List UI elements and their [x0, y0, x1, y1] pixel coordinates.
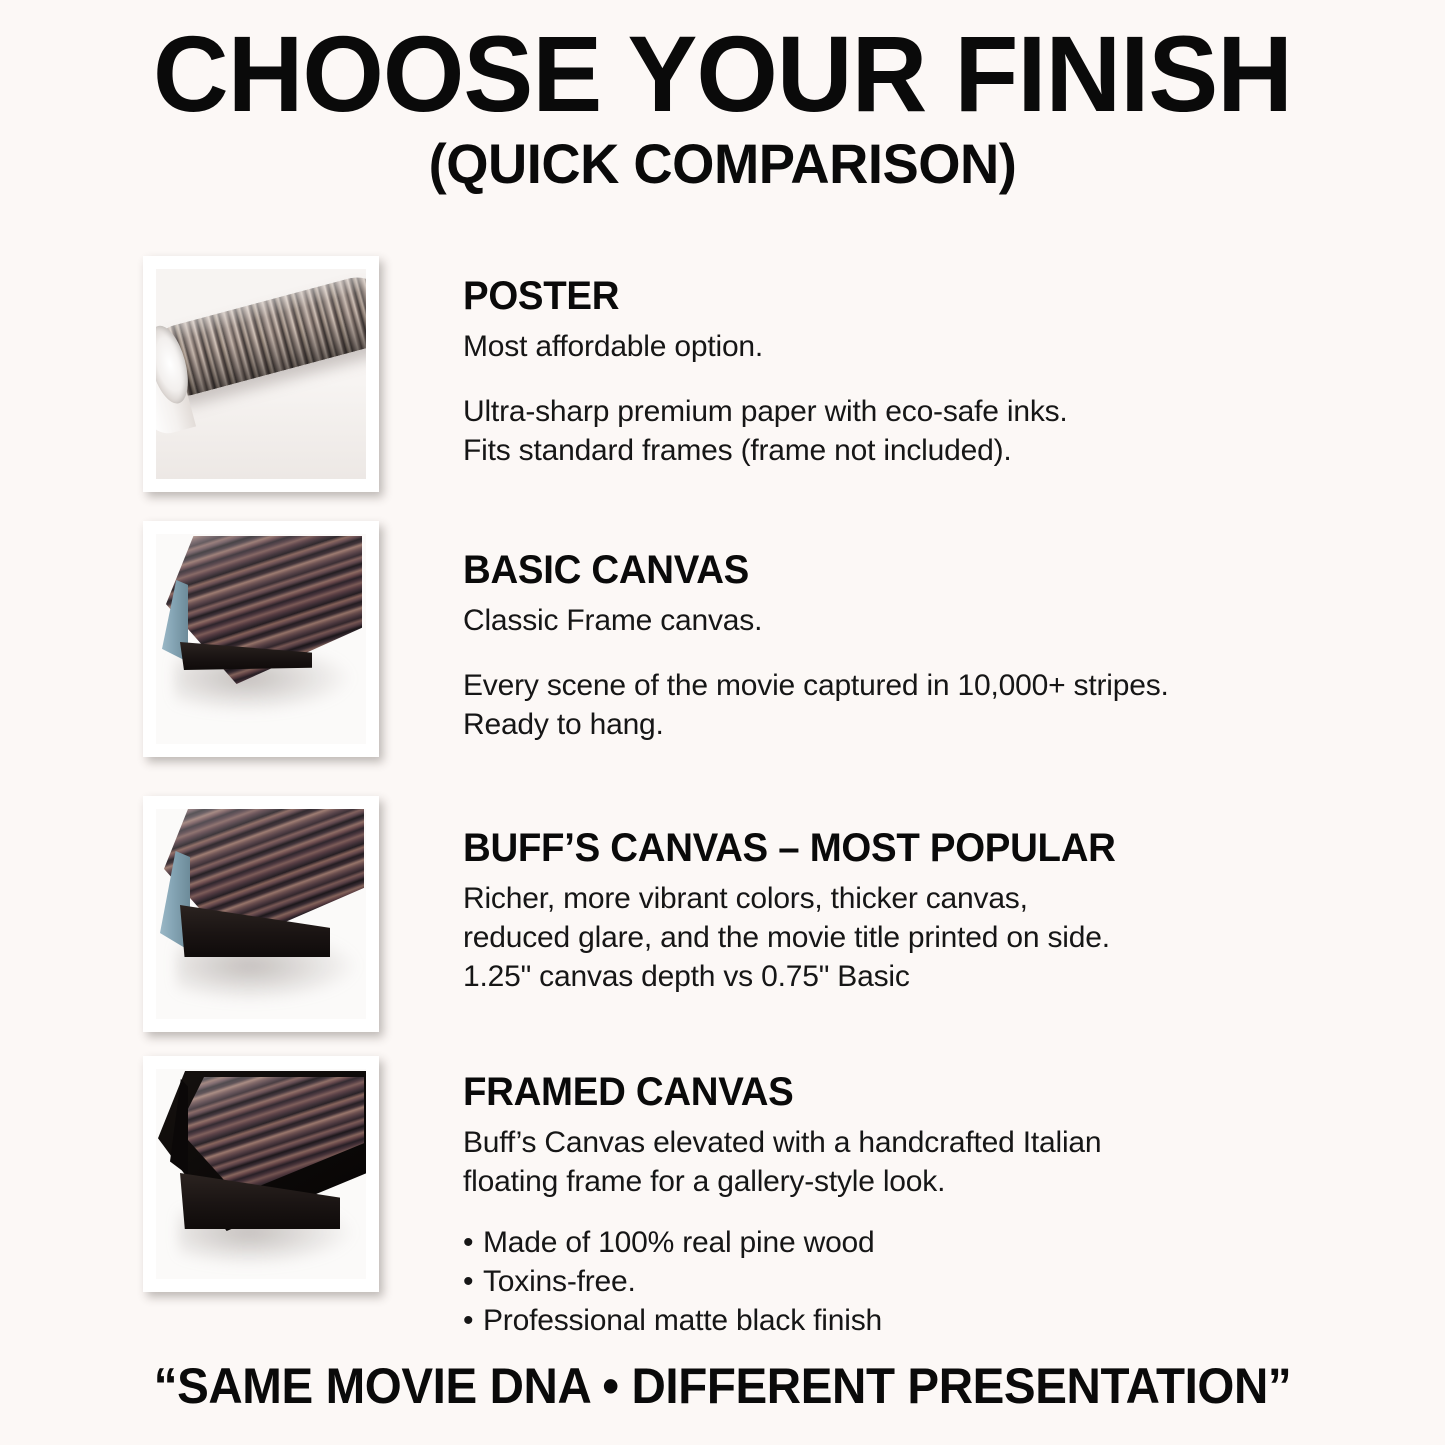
finish-body-buffs-canvas-2: reduced glare, and the movie title print…	[463, 918, 1333, 957]
poster-text-column: POSTER Most affordable option. Ultra-sha…	[463, 274, 1333, 470]
finish-lead-poster: Most affordable option.	[463, 327, 1333, 366]
finish-body-poster-2: Fits standard frames (frame not included…	[463, 431, 1333, 470]
photo-card	[143, 521, 379, 757]
finish-body-framed-canvas-1: Buff’s Canvas elevated with a handcrafte…	[463, 1123, 1333, 1162]
header: CHOOSE YOUR FINISH (QUICK COMPARISON)	[0, 0, 1445, 194]
bullet-dot-icon: •	[463, 1262, 483, 1301]
basic-canvas-scene	[156, 534, 366, 744]
list-item: •Professional matte black finish	[463, 1301, 1333, 1340]
framed-canvas-photo	[143, 1056, 379, 1292]
list-item: •Made of 100% real pine wood	[463, 1223, 1333, 1262]
finish-lead-basic-canvas: Classic Frame canvas.	[463, 601, 1333, 640]
buffs-canvas-photo	[143, 796, 379, 1032]
buffs-canvas-text-column: BUFF’S CANVAS – MOST POPULAR Richer, mor…	[463, 826, 1333, 996]
basic-canvas-text-column: BASIC CANVAS Classic Frame canvas. Every…	[463, 548, 1333, 744]
finish-title-poster: POSTER	[463, 274, 1298, 318]
finish-body-basic-canvas-1: Every scene of the movie captured in 10,…	[463, 666, 1333, 705]
finish-body-buffs-canvas-1: Richer, more vibrant colors, thicker can…	[463, 879, 1333, 918]
photo-inner	[156, 1069, 366, 1279]
framed-canvas-bullet-list: •Made of 100% real pine wood •Toxins-fre…	[463, 1223, 1333, 1340]
bullet-label: Made of 100% real pine wood	[483, 1226, 875, 1259]
framed-canvas-text-column: FRAMED CANVAS Buff’s Canvas elevated wit…	[463, 1070, 1333, 1340]
photo-card	[143, 796, 379, 1032]
basic-canvas-photo	[143, 521, 379, 757]
list-item: •Toxins-free.	[463, 1262, 1333, 1301]
framed-canvas-scene	[156, 1069, 366, 1279]
poster-scene	[156, 269, 366, 479]
bullet-dot-icon: •	[463, 1223, 483, 1262]
photo-inner	[156, 269, 366, 479]
photo-card	[143, 256, 379, 492]
finish-title-basic-canvas: BASIC CANVAS	[463, 548, 1298, 592]
finish-body-buffs-canvas-3: 1.25" canvas depth vs 0.75" Basic	[463, 957, 1333, 996]
infographic-page: CHOOSE YOUR FINISH (QUICK COMPARISON)	[0, 0, 1445, 1445]
finish-body-basic-canvas-2: Ready to hang.	[463, 705, 1333, 744]
page-title: CHOOSE YOUR FINISH	[22, 0, 1424, 130]
bullet-label: Professional matte black finish	[483, 1304, 882, 1337]
photo-inner	[156, 809, 366, 1019]
footer-tagline: “SAME MOVIE DNA • DIFFERENT PRESENTATION…	[36, 1358, 1409, 1414]
photo-card	[143, 1056, 379, 1292]
finish-title-buffs-canvas: BUFF’S CANVAS – MOST POPULAR	[463, 826, 1298, 870]
bullet-dot-icon: •	[463, 1301, 483, 1340]
photo-inner	[156, 534, 366, 744]
bullet-label: Toxins-free.	[483, 1265, 636, 1298]
poster-roll-photo	[143, 256, 379, 492]
footer: “SAME MOVIE DNA • DIFFERENT PRESENTATION…	[0, 1358, 1445, 1414]
finish-body-poster-1: Ultra-sharp premium paper with eco-safe …	[463, 392, 1333, 431]
page-subtitle: (QUICK COMPARISON)	[22, 134, 1424, 194]
buffs-canvas-scene	[156, 809, 366, 1019]
finish-title-framed-canvas: FRAMED CANVAS	[463, 1070, 1298, 1114]
finish-body-framed-canvas-2: floating frame for a gallery-style look.	[463, 1162, 1333, 1201]
